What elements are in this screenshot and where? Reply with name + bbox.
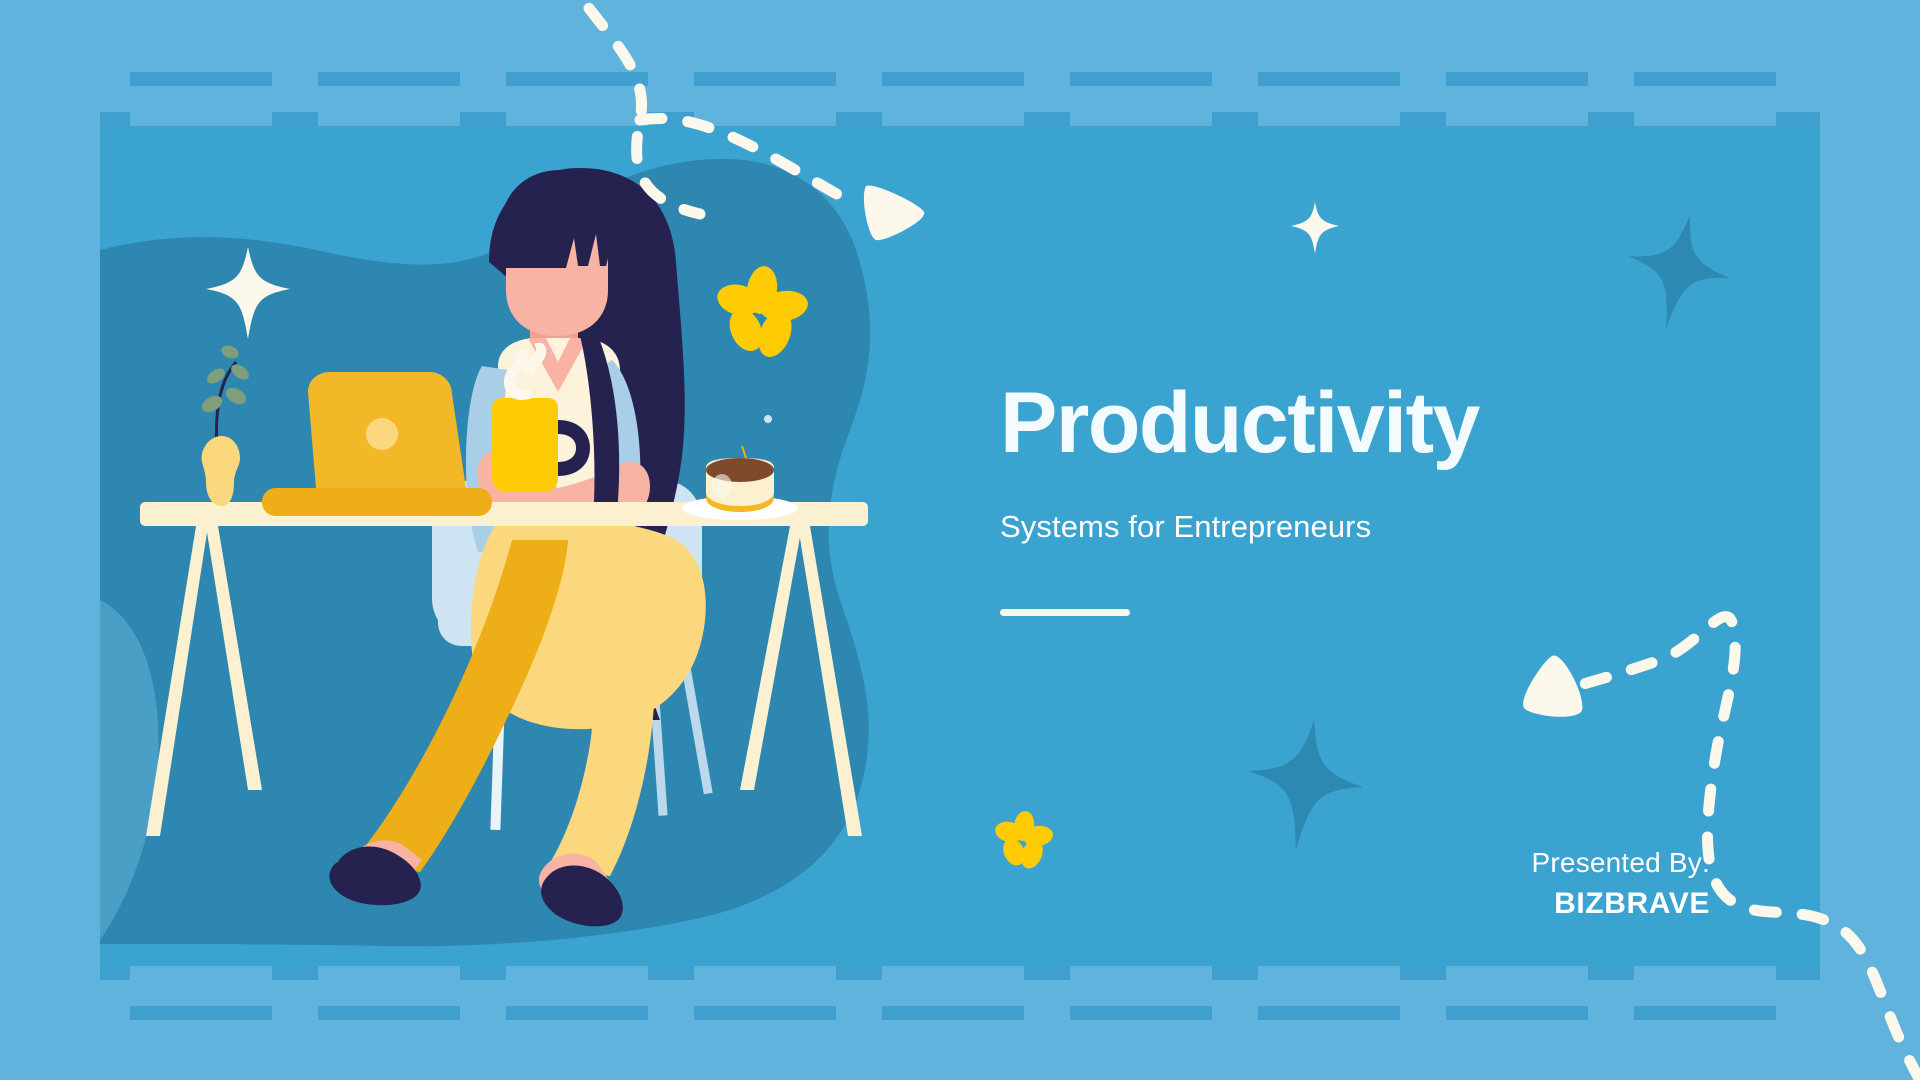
title-divider-rule <box>1000 609 1130 616</box>
dashed-arrow-path-top <box>560 0 700 214</box>
presentation-slide: Productivity Systems for Entrepreneurs P… <box>0 0 1920 1080</box>
sparkle-cream-small-top-icon <box>1291 202 1339 254</box>
arrowhead-right-icon <box>864 186 924 241</box>
presenter-credit-block: Presented By: BIZBRAVE <box>1000 845 1710 923</box>
presented-by-label: Presented By: <box>1000 845 1710 880</box>
page-title: Productivity <box>1000 380 1700 466</box>
small-dot-icon <box>764 415 772 423</box>
flower-yellow-large-icon <box>714 264 810 362</box>
sparkle-blue-top-right-icon <box>1615 204 1741 339</box>
dashed-arrow-path-top-branch <box>640 118 840 196</box>
page-subtitle: Systems for Entrepreneurs <box>1000 466 1700 545</box>
sparkle-cream-large-left-icon <box>206 247 290 339</box>
presenter-name: BIZBRAVE <box>1000 880 1710 923</box>
